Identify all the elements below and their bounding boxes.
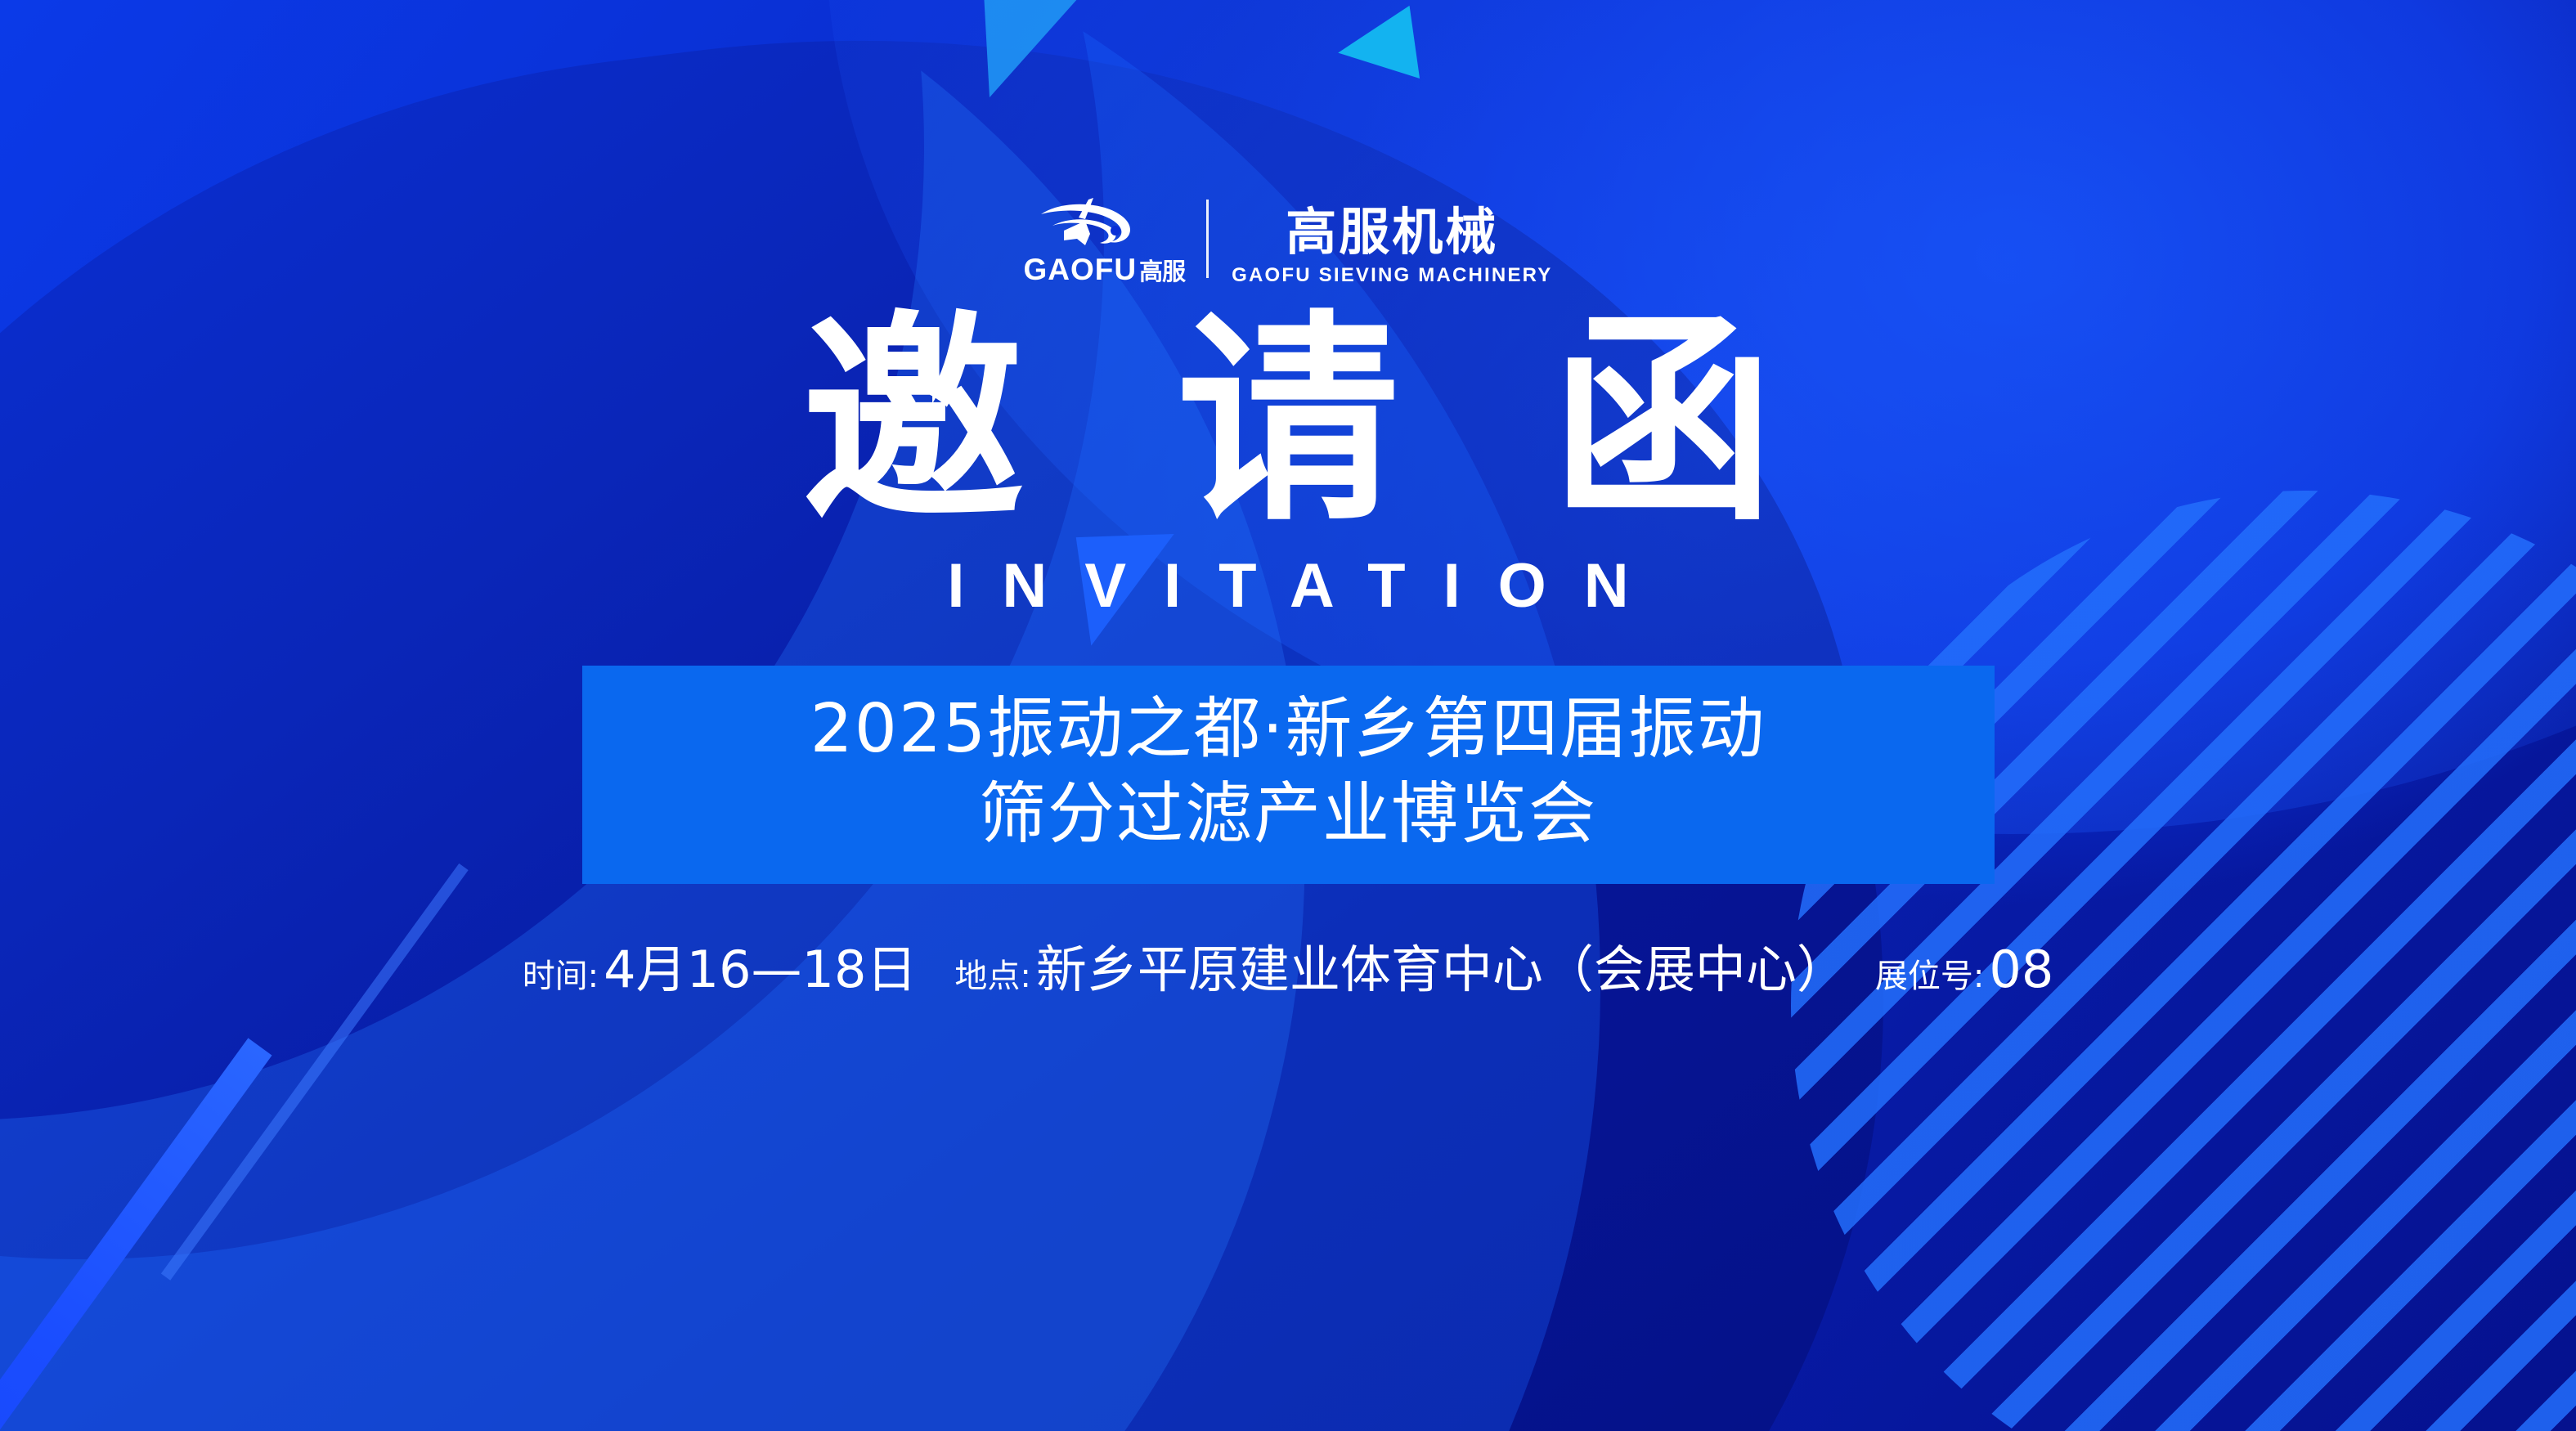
brand-secondary-chinese: 高服机械 (1286, 207, 1498, 258)
brand-chinese-name: 高服 (1139, 253, 1185, 287)
event-name-line-2: 筛分过滤产业博览会 (582, 772, 1995, 856)
event-details-row: 时间: 4月16—18日 地点: 新乡平原建业体育中心（会展中心） 展位号: 0… (523, 928, 2054, 1002)
page-title-english: INVITATION (909, 550, 1666, 621)
event-name-line-1: 2025振动之都·新乡第四届振动 (582, 687, 1995, 771)
brand-logo-primary-wordmark: GAOFU 高服 (1023, 253, 1185, 287)
brand-logo-primary: GAOFU 高服 (1023, 191, 1206, 287)
time-value: 4月16—18日 (604, 928, 917, 1002)
invitation-poster: GAOFU 高服 高服机械 GAOFU SIEVING MACHINERY 邀 … (0, 0, 2576, 1431)
brand-logo-secondary: 高服机械 GAOFU SIEVING MACHINERY (1232, 191, 1552, 287)
logo-divider (1206, 200, 1209, 278)
place-label: 地点: (954, 949, 1030, 997)
booth-label: 展位号: (1875, 949, 1984, 997)
brand-latin-name: GAOFU (1023, 253, 1137, 287)
brand-secondary-english: GAOFU SIEVING MACHINERY (1232, 264, 1552, 287)
eagle-swoosh-icon (1039, 198, 1169, 249)
booth-value: 08 (1989, 940, 2053, 999)
place-value: 新乡平原建业体育中心（会展中心） (1036, 928, 1847, 1002)
event-name-banner: 2025振动之都·新乡第四届振动 筛分过滤产业博览会 (582, 666, 1995, 884)
page-title: 邀 请 函 (764, 309, 1811, 536)
time-label: 时间: (523, 949, 599, 997)
brand-logo-lockup: GAOFU 高服 高服机械 GAOFU SIEVING MACHINERY (1023, 190, 1552, 288)
